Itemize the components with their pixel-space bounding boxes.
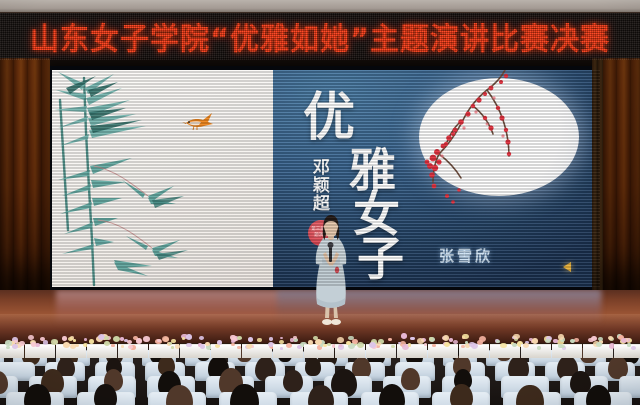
flower-cluster xyxy=(248,337,254,342)
stage-flower-row xyxy=(0,332,640,358)
flower-cluster xyxy=(257,338,261,342)
flower-cluster xyxy=(401,333,408,339)
flower-cluster xyxy=(231,340,235,343)
bamboo-painting-icon xyxy=(52,70,273,287)
flower-cluster xyxy=(621,338,627,343)
flower-cluster xyxy=(627,343,631,346)
flower-cluster xyxy=(608,336,613,340)
flower-cluster xyxy=(237,336,242,340)
audience-head xyxy=(305,357,322,376)
flower-cluster xyxy=(432,344,435,347)
flower-cluster xyxy=(465,341,468,344)
flower-cluster xyxy=(269,337,274,341)
flower-cluster xyxy=(532,338,539,344)
bird-icon xyxy=(182,110,216,132)
flower-cluster xyxy=(128,345,133,349)
flower-cluster xyxy=(469,342,474,347)
flower-cluster xyxy=(570,339,575,343)
flower-cluster xyxy=(545,339,550,343)
flower-cluster xyxy=(574,338,578,342)
flower-cluster xyxy=(111,344,114,347)
flower-cluster xyxy=(513,334,519,339)
flower-cluster xyxy=(171,346,174,349)
flower-cluster xyxy=(104,336,109,340)
flower-cluster xyxy=(553,339,557,343)
flower-cluster xyxy=(558,344,562,348)
flower-cluster xyxy=(320,344,323,347)
slide-panel-bamboo xyxy=(52,70,273,287)
presenter-figure xyxy=(303,214,359,330)
flower-cluster xyxy=(290,338,294,341)
flower-cluster xyxy=(182,337,186,340)
flower-cluster xyxy=(230,335,235,339)
flower-cluster xyxy=(500,343,507,349)
audience-head xyxy=(24,384,50,405)
flower-planter xyxy=(552,344,582,358)
flower-cluster xyxy=(313,336,318,340)
flower-planter xyxy=(25,344,55,358)
flower-cluster xyxy=(352,339,358,344)
flower-cluster xyxy=(63,342,70,348)
curtain-left xyxy=(0,58,50,290)
flower-cluster xyxy=(62,336,68,341)
flower-cluster xyxy=(35,343,39,347)
flower-cluster xyxy=(377,342,381,346)
led-banner: 山东女子学院“优雅如她”主题演讲比赛决赛 xyxy=(0,12,640,62)
flower-cluster xyxy=(631,346,636,350)
flower-cluster xyxy=(308,340,313,345)
flower-cluster xyxy=(12,344,18,349)
flower-cluster xyxy=(186,334,193,340)
audience-head xyxy=(401,368,420,389)
flower-cluster xyxy=(337,337,344,343)
flower-cluster xyxy=(186,343,192,348)
flower-cluster xyxy=(157,339,160,342)
flower-cluster xyxy=(5,340,11,345)
curtain-right xyxy=(603,58,640,290)
flower-cluster xyxy=(558,334,564,339)
flower-cluster xyxy=(28,335,34,340)
slide-speaker-name: 张雪欣 xyxy=(439,245,493,266)
flower-cluster xyxy=(408,343,412,346)
flower-cluster xyxy=(171,339,176,343)
flower-cluster xyxy=(417,338,423,344)
flower-cluster xyxy=(162,336,169,342)
flower-cluster xyxy=(410,337,414,341)
slide-char-1: 优 xyxy=(303,92,355,144)
slide-char-4: 子 xyxy=(357,236,404,283)
flower-cluster xyxy=(143,336,150,342)
flower-cluster xyxy=(6,346,10,349)
flower-cluster xyxy=(84,338,88,341)
audience-head xyxy=(94,384,117,405)
flower-cluster xyxy=(231,343,235,346)
stage-photograph: 山东女子学院“优雅如她”主题演讲比赛决赛 xyxy=(0,0,640,405)
flower-cluster xyxy=(199,336,204,340)
flower-cluster xyxy=(388,338,392,341)
slide-subject-name: 邓颖超 xyxy=(309,158,327,212)
flower-cluster xyxy=(200,344,205,348)
audience-head xyxy=(283,370,303,392)
flower-cluster xyxy=(462,334,469,340)
led-banner-text: 山东女子学院“优雅如她”主题演讲比赛决赛 xyxy=(30,14,610,58)
flower-cluster xyxy=(246,344,252,349)
flower-cluster xyxy=(217,340,222,344)
play-triangle-icon xyxy=(563,262,571,272)
flower-cluster xyxy=(496,340,499,343)
flower-cluster xyxy=(479,336,486,342)
flower-cluster xyxy=(43,340,48,344)
